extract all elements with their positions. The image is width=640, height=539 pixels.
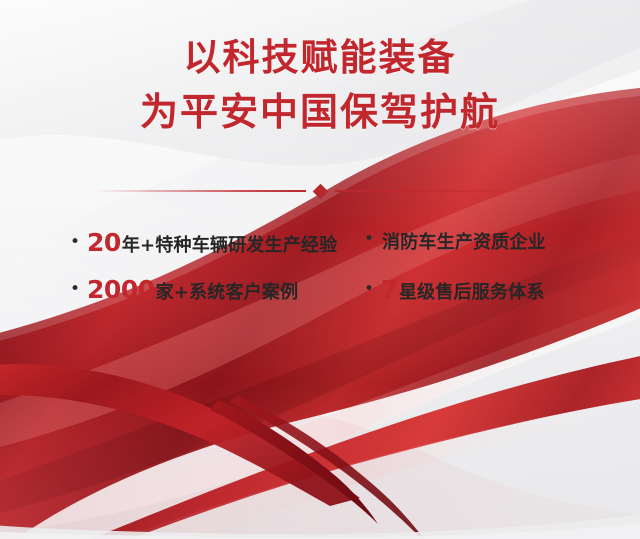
title-line-1: 以科技赋能装备 — [0, 34, 640, 82]
highlight-text: 消防车生产资质企业 — [382, 228, 546, 254]
highlights-right-column: • 消防车生产资质企业 • 7 星级售后服务体系 — [364, 228, 634, 322]
title-line-2: 为平安中国保驾护航 — [0, 88, 640, 136]
divider — [95, 183, 545, 199]
highlights: • 20 年+特种车辆研发生产经验 • 2000 家+系统客户案例 • 消防车生… — [0, 228, 640, 328]
highlight-text: 年+特种车辆研发生产经验 — [122, 231, 337, 257]
list-item: • 2000 家+系统客户案例 — [70, 275, 370, 322]
promo-banner: 以科技赋能装备 为平安中国保驾护航 • 20 年+特种车辆研发生产经验 • 20… — [0, 0, 640, 539]
diamond-icon — [312, 183, 328, 199]
highlights-left-column: • 20 年+特种车辆研发生产经验 • 2000 家+系统客户案例 — [70, 228, 370, 322]
highlight-number: 7 — [381, 275, 398, 304]
highlight-number: 20 — [87, 228, 121, 257]
bullet-dot-icon: • — [70, 281, 80, 298]
list-item: • 20 年+特种车辆研发生产经验 — [70, 228, 370, 275]
divider-rule-left — [95, 190, 306, 192]
bullet-dot-icon: • — [364, 281, 374, 298]
highlight-number: 2000 — [87, 275, 155, 304]
highlight-text: 星级售后服务体系 — [399, 278, 545, 304]
bullet-dot-icon: • — [70, 234, 80, 251]
list-item: • 7 星级售后服务体系 — [364, 275, 634, 322]
highlight-text: 家+系统客户案例 — [156, 278, 299, 304]
title-block: 以科技赋能装备 为平安中国保驾护航 — [0, 34, 640, 136]
bullet-dot-icon: • — [364, 231, 374, 248]
list-item: • 消防车生产资质企业 — [364, 228, 634, 275]
divider-rule-right — [335, 190, 546, 192]
